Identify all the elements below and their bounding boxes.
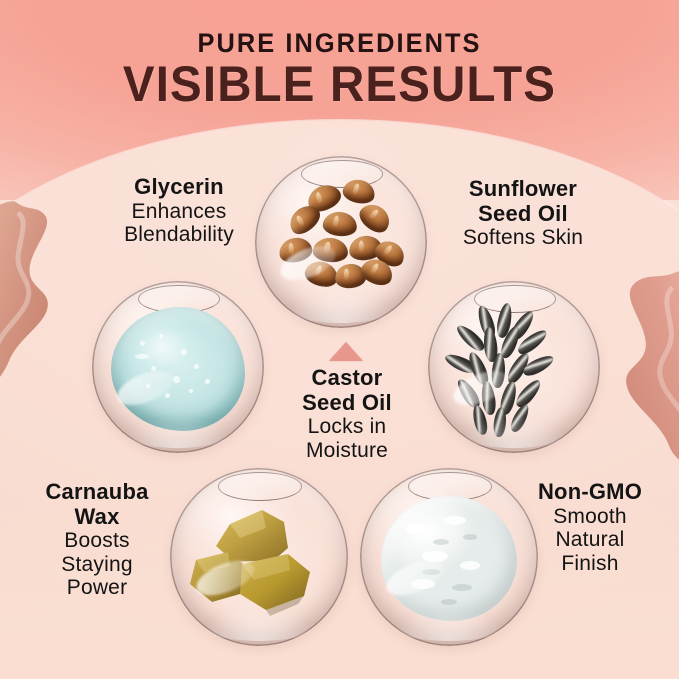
- ingredient-label-castor: Castor Seed Oil Locks in Moisture: [277, 366, 417, 462]
- ingredient-sphere-castor: [255, 156, 427, 328]
- ingredient-sphere-glycerin: [92, 281, 264, 453]
- ingredient-label-carnauba: Carnauba Wax Boosts Staying Power: [6, 480, 188, 600]
- ingredient-benefit-line: Natural: [504, 528, 676, 552]
- ingredient-benefit-line: Moisture: [277, 439, 417, 463]
- ingredient-benefit-line: Softens Skin: [425, 226, 621, 250]
- ingredient-title: Carnauba: [6, 480, 188, 505]
- page-title-main: VISIBLE RESULTS: [17, 55, 662, 113]
- ingredient-benefit-line: Staying: [6, 553, 188, 577]
- ingredient-sphere-carnauba: [170, 468, 348, 646]
- ingredient-benefit-line: Boosts: [6, 529, 188, 553]
- ingredient-benefit-line: Blendability: [84, 223, 274, 247]
- ingredient-title: Wax: [6, 505, 188, 530]
- ingredient-benefit-line: Power: [6, 576, 188, 600]
- castor-seeds-icon: [255, 156, 427, 328]
- ingredient-title: Sunflower: [425, 177, 621, 202]
- ingredient-title: Glycerin: [84, 175, 274, 200]
- ingredient-title: Seed Oil: [277, 391, 417, 416]
- ingredient-label-non-gmo: Non-GMO Smooth Natural Finish: [504, 480, 676, 575]
- ingredient-title: Castor: [277, 366, 417, 391]
- sunflower-seeds-icon: [428, 281, 600, 453]
- ingredient-benefit-line: Finish: [504, 552, 676, 576]
- ingredient-title: Seed Oil: [425, 202, 621, 227]
- ingredient-benefit-line: Locks in: [277, 415, 417, 439]
- ingredient-title: Non-GMO: [504, 480, 676, 505]
- wax-chunks-icon: [170, 468, 348, 646]
- castor-pointer-triangle-icon: [329, 342, 363, 361]
- ingredient-sphere-sunflower: [428, 281, 600, 453]
- infographic-canvas: PURE INGREDIENTS VISIBLE RESULTS: [0, 0, 679, 679]
- ingredient-benefit-line: Enhances: [84, 200, 274, 224]
- ingredient-label-glycerin: Glycerin Enhances Blendability: [84, 175, 274, 247]
- ingredient-label-sunflower: Sunflower Seed Oil Softens Skin: [425, 177, 621, 250]
- ingredient-benefit-line: Smooth: [504, 505, 676, 529]
- teal-gel-icon: [92, 281, 264, 453]
